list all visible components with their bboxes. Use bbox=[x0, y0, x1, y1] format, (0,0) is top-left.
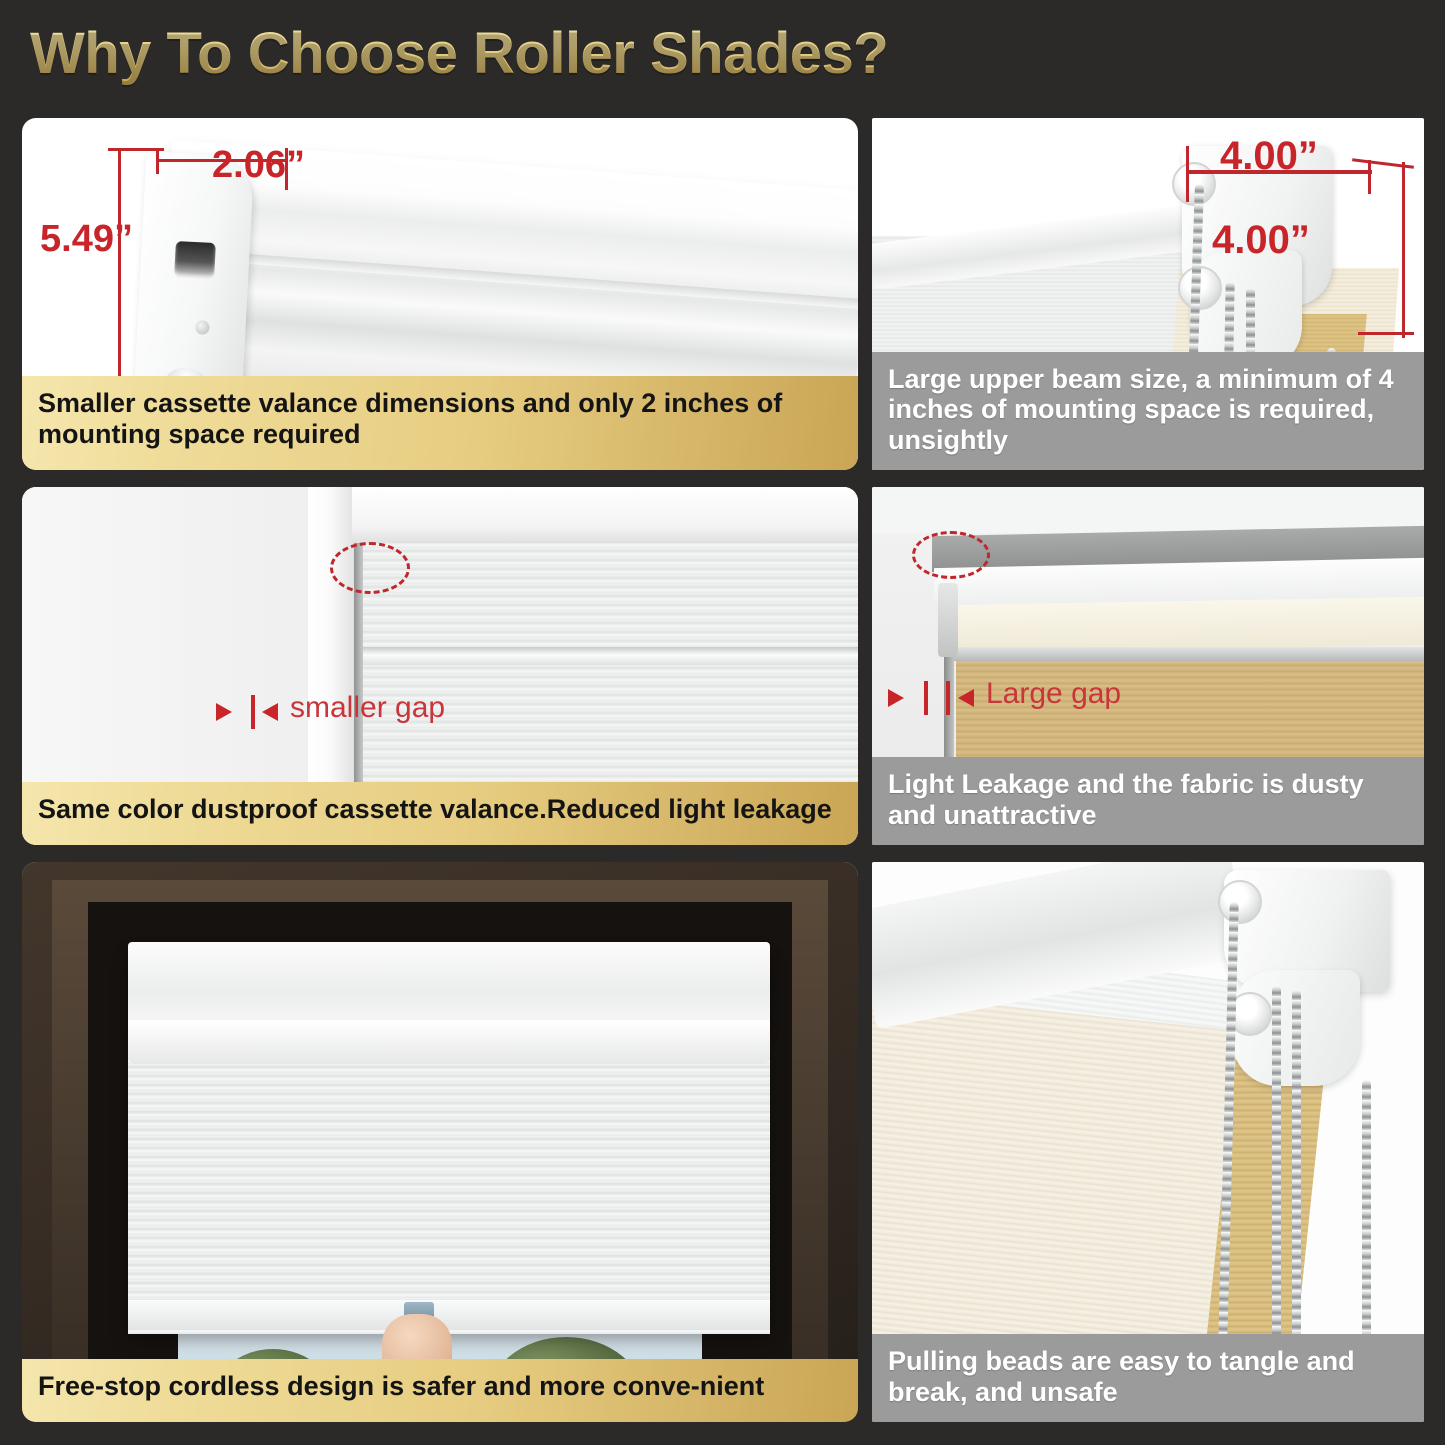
gap-tick-right-icon bbox=[946, 681, 950, 715]
panel-2-caption: Large upper beam size, a minimum of 4 in… bbox=[872, 352, 1424, 470]
panel-2-card: 4.00” 4.00” Large upper beam size, a min… bbox=[872, 118, 1424, 470]
panel-6-card: Pulling beads are easy to tangle and bre… bbox=[872, 862, 1424, 1422]
page-title: Why To Choose Roller Shades? bbox=[30, 20, 888, 87]
panel-3-caption: Same color dustproof cassette valance.Re… bbox=[22, 782, 858, 845]
shade-bottom-bar-shape bbox=[128, 1300, 770, 1330]
valance-lip-shape bbox=[128, 1020, 770, 1064]
gap-tick-icon bbox=[251, 695, 255, 729]
gap-arrow-right-icon bbox=[958, 689, 974, 707]
window-opening-shape bbox=[88, 902, 792, 1422]
endcap-slot-shape bbox=[174, 241, 216, 279]
gap-arrow-left-icon bbox=[888, 689, 904, 707]
beam-height-label: 4.00” bbox=[1212, 218, 1310, 263]
panel-5-caption: Free-stop cordless design is safer and m… bbox=[22, 1359, 858, 1422]
valance-endcap-shape bbox=[134, 151, 255, 406]
gap-tick-left-icon bbox=[924, 681, 928, 715]
panel-3-card: smaller gap Same color dustproof cassett… bbox=[22, 487, 858, 845]
height-dim-tick-top bbox=[108, 148, 164, 151]
pulley-upper-shape bbox=[1218, 880, 1262, 924]
ceiling-shape bbox=[872, 487, 1424, 533]
beam-width-tick-left bbox=[1186, 146, 1189, 202]
beam-width-label: 4.00” bbox=[1220, 134, 1318, 179]
height-dimension-label: 5.49” bbox=[40, 218, 133, 261]
highlight-ring-icon bbox=[912, 531, 990, 579]
large-gap-label: Large gap bbox=[986, 677, 1121, 711]
bead-chain-3 bbox=[1292, 990, 1301, 1342]
infographic-page: Why To Choose Roller Shades? 2.06” 5.49”… bbox=[0, 0, 1445, 1445]
panel-1-caption: Smaller cassette valance dimensions and … bbox=[22, 376, 858, 470]
beam-height-tick-bottom bbox=[1358, 332, 1414, 335]
beam-cream-shape bbox=[948, 597, 1424, 653]
panel-4-card: Large gap Light Leakage and the fabric i… bbox=[872, 487, 1424, 845]
cordless-window-photo bbox=[22, 862, 858, 1422]
beam-height-line bbox=[1402, 162, 1405, 338]
bead-chain-2 bbox=[1272, 986, 1281, 1342]
panel-6-caption: Pulling beads are easy to tangle and bre… bbox=[872, 1334, 1424, 1422]
panel-4-caption: Light Leakage and the fabric is dusty an… bbox=[872, 757, 1424, 845]
panel-5-card: Free-stop cordless design is safer and m… bbox=[22, 862, 858, 1422]
cassette-valance-shape bbox=[128, 942, 770, 1032]
window-header-shape bbox=[352, 487, 858, 543]
panel-1-card: 2.06” 5.49” Smaller cassette valance dim… bbox=[22, 118, 858, 470]
cream-fabric-shape bbox=[872, 991, 1254, 1392]
beam-rail-shape bbox=[950, 647, 1424, 661]
width-dimension-label: 2.06” bbox=[212, 144, 305, 187]
beam-width-tick-right bbox=[1368, 160, 1371, 194]
valance-bar-shape bbox=[360, 647, 858, 665]
mounting-clip-shape bbox=[938, 583, 958, 657]
smaller-gap-label: smaller gap bbox=[290, 691, 445, 725]
highlight-ring-icon bbox=[330, 542, 410, 594]
gap-arrow-left-icon bbox=[216, 703, 232, 721]
bead-chain-4 bbox=[1362, 1080, 1371, 1342]
gap-arrow-right-icon bbox=[262, 703, 278, 721]
endcap-screw-shape bbox=[195, 320, 210, 335]
